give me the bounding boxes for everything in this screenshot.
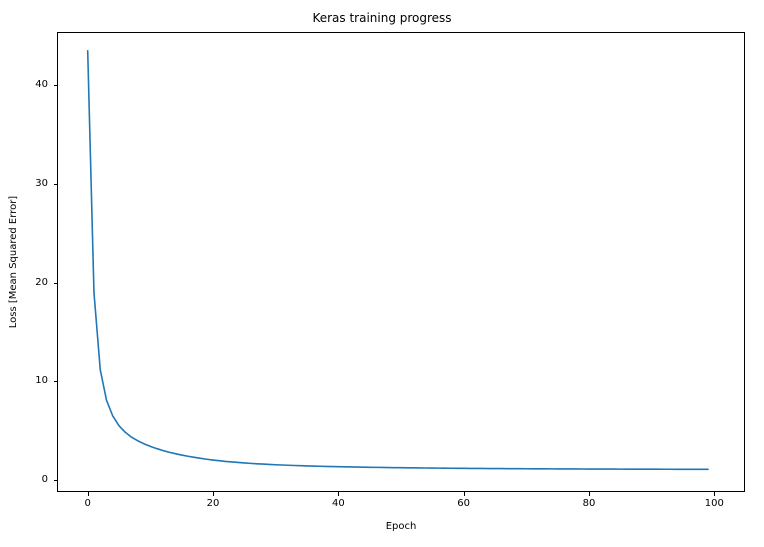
x-tick-mark <box>714 492 715 496</box>
x-tick-label: 40 <box>308 498 368 510</box>
y-tick-mark <box>54 85 58 86</box>
chart-title: Keras training progress <box>0 11 764 25</box>
y-tick-mark <box>54 480 58 481</box>
y-tick-mark <box>54 381 58 382</box>
y-tick-mark <box>54 283 58 284</box>
x-tick-label: 60 <box>434 498 494 510</box>
x-tick-mark <box>589 492 590 496</box>
x-tick-label: 20 <box>183 498 243 510</box>
x-tick-label: 0 <box>58 498 118 510</box>
x-axis-label: Epoch <box>57 521 745 533</box>
loss-curve-plot <box>57 32 745 492</box>
x-tick-mark <box>213 492 214 496</box>
x-tick-mark <box>464 492 465 496</box>
x-tick-label: 100 <box>684 498 744 510</box>
matplotlib-figure: Keras training progress 020406080100 010… <box>0 0 764 547</box>
x-tick-mark <box>338 492 339 496</box>
y-axis-label: Loss [Mean Squared Error] <box>7 32 21 492</box>
loss-line-series <box>88 51 708 470</box>
x-tick-label: 80 <box>559 498 619 510</box>
x-tick-mark <box>88 492 89 496</box>
y-tick-mark <box>54 184 58 185</box>
